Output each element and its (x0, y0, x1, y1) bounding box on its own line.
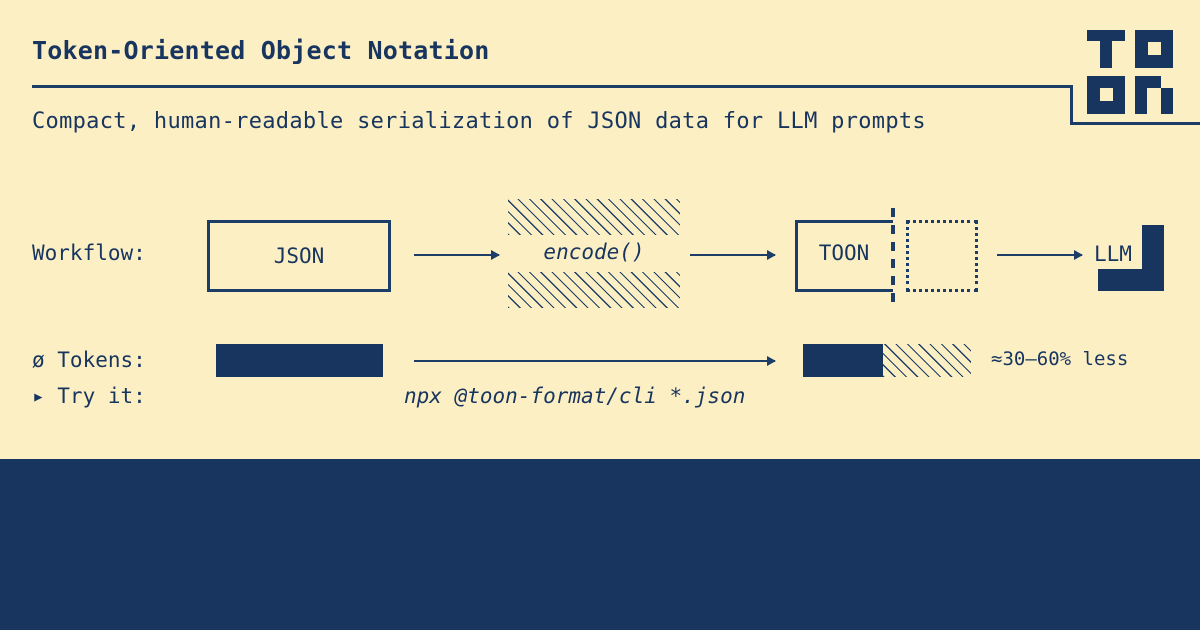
header-divider-step (1070, 85, 1073, 125)
workflow-label: Workflow: (32, 241, 146, 265)
encode-hatch-top (508, 199, 680, 235)
workflow-node-llm-label: LLM (1094, 242, 1132, 266)
tokens-bar-toon-solid (803, 344, 883, 377)
header-divider-lower (1070, 122, 1200, 125)
encode-hatch-bottom (508, 272, 680, 308)
toon-box-ghost-region (906, 220, 978, 292)
tokens-label: ø Tokens: (32, 348, 146, 372)
tokens-arrow (414, 360, 775, 362)
try-it-command[interactable]: npx @toon-format/cli *.json (404, 384, 745, 408)
workflow-node-json: JSON (207, 220, 391, 292)
page-subtitle: Compact, human-readable serialization of… (32, 109, 926, 134)
try-it-label: ▸ Try it: (32, 384, 146, 408)
header-divider (32, 85, 1073, 88)
workflow-node-toon-label: TOON (795, 241, 893, 265)
toon-box-divider (891, 208, 895, 304)
tokens-savings-label: ≈30–60% less (991, 348, 1128, 370)
workflow-node-encode-label: encode() (508, 240, 680, 264)
workflow-arrow-3 (997, 254, 1082, 256)
page-title: Token-Oriented Object Notation (32, 36, 490, 65)
workflow-arrow-1 (414, 254, 499, 256)
stats-panel: TOON → JSON → avg tokens retrieval accur… (0, 459, 1200, 630)
tokens-bar-toon-saved (883, 344, 971, 377)
infographic-card: Token-Oriented Object Notation Compact, … (0, 0, 1200, 630)
workflow-arrow-2 (690, 254, 775, 256)
workflow-node-json-label: JSON (274, 244, 325, 268)
toon-logo (1087, 30, 1173, 106)
tokens-bar-json (216, 344, 383, 377)
